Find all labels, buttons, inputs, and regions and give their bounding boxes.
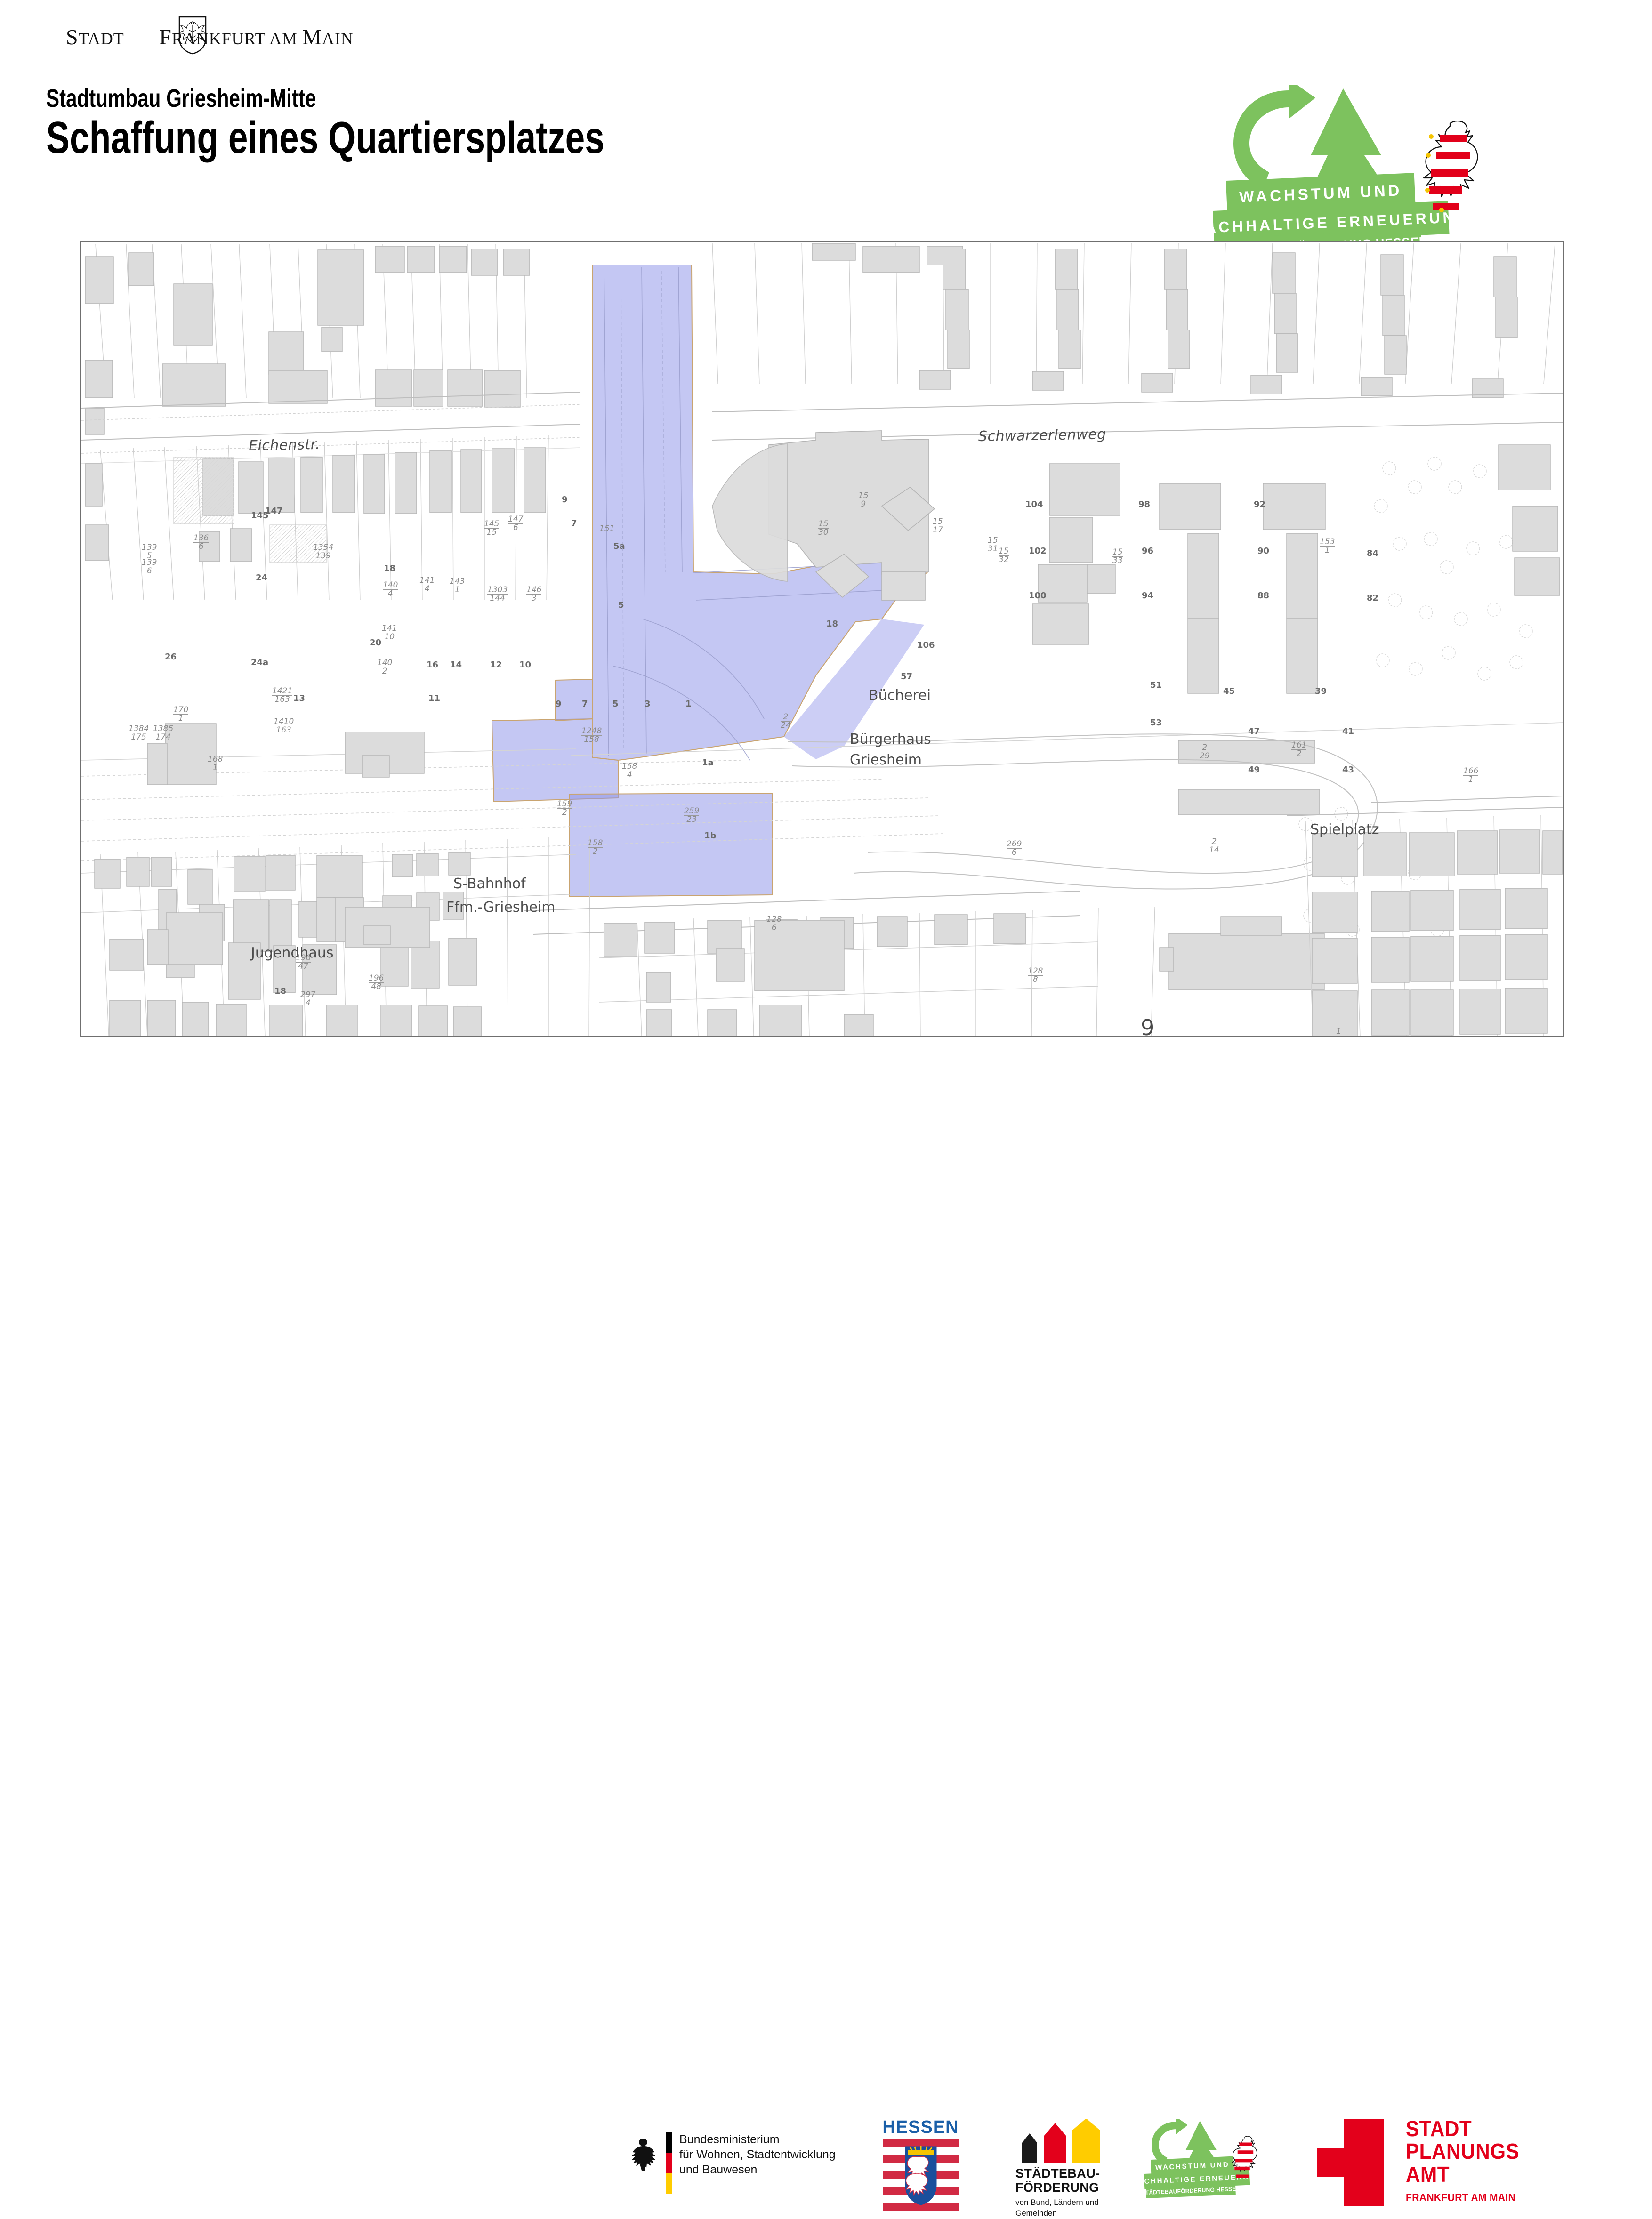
house-number: 43 <box>1342 765 1354 775</box>
map-vector-layer: 9 <box>81 242 1563 1036</box>
parcel-number: 1286 <box>766 916 782 932</box>
parcel-number: 1530 <box>818 520 829 537</box>
parcel-number: 14515 <box>484 520 499 537</box>
parcel-number: 1532 <box>999 547 1009 564</box>
stadt-frankfurt-logo: STADT FRANKFURT AM MAIN <box>66 23 367 56</box>
parcel-number: 159 <box>858 492 869 508</box>
house-number: 49 <box>1248 765 1260 775</box>
house-number: 24a <box>251 658 268 667</box>
bmwsb-line1: Bundesministerium <box>679 2132 849 2147</box>
parcel-number: 2974 <box>300 991 315 1007</box>
house-number: 13 <box>293 693 305 703</box>
house-number: 5 <box>612 699 619 709</box>
parcel-number: 1385174 <box>153 725 173 741</box>
stadtplanungsamt-text: STADT PLANUNGS AMT FRANKFURT AM MAIN <box>1406 2117 1529 2204</box>
parcel-number: 1476 <box>508 515 523 532</box>
parcel-number: 1517 <box>933 518 943 534</box>
german-flag-bar <box>666 2132 672 2194</box>
house-number: 96 <box>1142 546 1153 556</box>
page-title: Schaffung eines Quartiersplatzes <box>46 112 604 164</box>
staedtebaufoerderung-logo: STÄDTEBAU- FÖRDERUNG von Bund, Ländern u… <box>1010 2119 1118 2213</box>
hessen-lion-icon <box>1417 115 1488 216</box>
stfoe-sub: von Bund, Ländern und Gemeinden <box>1015 2197 1099 2219</box>
parcel-number: 19648 <box>369 974 384 991</box>
house-number: 18 <box>274 986 286 996</box>
spa-subline: FRANKFURT AM MAIN <box>1406 2191 1519 2204</box>
poi-label: Ffm.-Griesheim <box>446 899 556 916</box>
bmwsb-line2: für Wohnen, Stadtentwicklung <box>679 2147 849 2162</box>
house-number: 41 <box>1342 726 1354 736</box>
parcel-number: 1592 <box>557 800 572 817</box>
house-number: 26 <box>165 652 177 662</box>
house-number: 102 <box>1029 546 1047 556</box>
cadastral-map[interactable]: 9 Eichenstr.SchwarzerlenwegErzbergerstr.… <box>80 241 1564 1037</box>
house-number: 7 <box>582 699 588 709</box>
house-number: 5 <box>618 600 624 610</box>
parcel-number: 1366 <box>193 534 209 551</box>
parcel-number: 19647 <box>296 954 311 971</box>
house-number: 5a <box>613 541 625 551</box>
house-number: 82 <box>1367 593 1378 603</box>
house-number: 12 <box>490 660 502 670</box>
house-number: 1 <box>685 699 692 709</box>
house-number: 94 <box>1142 591 1153 601</box>
house-number: 1a <box>702 758 714 768</box>
poi-label: Bücherei <box>869 687 931 704</box>
house-number: 18 <box>1233 1037 1244 1037</box>
poi-label: Bürgerhaus <box>850 731 931 748</box>
house-number: 57 <box>901 672 912 682</box>
house-number: 9 <box>562 495 568 505</box>
house-number: 100 <box>1029 591 1047 601</box>
house-number: 18 <box>826 619 838 629</box>
house-number: 3 <box>645 699 651 709</box>
parcel-number: 1421163 <box>272 687 292 704</box>
parcel-number: 1584 <box>622 763 637 779</box>
house-number: 20 <box>370 638 381 648</box>
wordmark-rankfurt-am: RANKFURT AM <box>172 29 302 48</box>
three-houses-icon <box>1017 2119 1102 2163</box>
poi-label: S-Bahnhof <box>453 876 526 892</box>
house-number: 53 <box>1150 718 1162 728</box>
wordmark-tadt: TADT <box>79 29 124 48</box>
parcel-number: 1404 <box>383 581 398 598</box>
parcel-number: 1431 <box>450 578 465 594</box>
parcel-number: 1701 <box>173 706 188 723</box>
parcel-number: 151 <box>599 525 614 533</box>
parcel-number: 214 <box>1209 838 1219 854</box>
spa-line2: PLANUNGS <box>1406 2140 1519 2163</box>
parcel-number: 1354139 <box>313 544 333 560</box>
parcel-number: 14110 <box>382 625 397 641</box>
parcel-number: 1396 <box>142 559 157 575</box>
parcel-number: 1402 <box>377 659 392 675</box>
house-number: 92 <box>1254 499 1265 509</box>
house-number: 90 <box>1257 546 1269 556</box>
stfoe-line3: von Bund, Ländern und <box>1015 2197 1099 2208</box>
parcel-number: 1681 <box>208 756 223 772</box>
parcel-number: 1248158 <box>581 727 602 744</box>
house-number: 9 <box>556 699 562 709</box>
poi-label: Jugendhaus <box>251 945 333 961</box>
house-number: 39 <box>1315 686 1327 696</box>
house-number: 1b <box>704 831 716 841</box>
parcel-number: 1288 <box>1028 967 1043 984</box>
house-number: 84 <box>1367 548 1378 558</box>
stfoe-line1: STÄDTEBAU- <box>1015 2166 1100 2181</box>
parcel-number: 1414 <box>419 577 435 593</box>
parcel-number: 25923 <box>684 807 699 824</box>
spa-line3: AMT <box>1406 2163 1519 2186</box>
bmwsb-logo: Bundesministerium für Wohnen, Stadtentwi… <box>629 2130 850 2196</box>
parcel-number: 1410163 <box>274 718 294 734</box>
project-subtitle: Stadtumbau Griesheim-Mitte <box>46 84 316 113</box>
parcel-number: 224 <box>781 713 791 730</box>
parcel-number: 1463 <box>526 586 541 603</box>
house-number: 7 <box>571 518 577 528</box>
parcel-number: 2696 <box>1007 840 1022 857</box>
page-header: STADT FRANKFURT AM MAIN Stadtumbau Gries… <box>0 0 1652 221</box>
parcel-number: 1384175 <box>129 725 149 741</box>
wachstum-erneuerung-logo: WACHSTUM UND NACHHALTIGE ERNEUERUNG STÄD… <box>1223 85 1515 249</box>
wordmark-f: F <box>159 25 172 49</box>
page-footer: Bundesministerium für Wohnen, Stadtentwi… <box>0 1054 1652 1167</box>
wordmark-s: S <box>66 25 79 49</box>
parcel-number: 229 <box>1200 744 1210 760</box>
house-number: 47 <box>1248 726 1260 736</box>
street-label: Eichenstr. <box>249 436 320 454</box>
house-number: 10 <box>519 660 531 670</box>
bmwsb-line3: und Bauwesen <box>679 2162 849 2177</box>
parcel-number: 1303144 <box>487 586 508 603</box>
house-number: 98 <box>1138 499 1150 509</box>
parcel-number: 1531 <box>988 537 998 553</box>
stfoe-line2: FÖRDERUNG <box>1015 2180 1099 2195</box>
hessen-flag-shield <box>883 2139 959 2211</box>
hessen-logo: HESSEN <box>882 2117 959 2211</box>
stadt-frankfurt-wordmark: STADT FRANKFURT AM MAIN <box>66 24 367 49</box>
house-number: 24 <box>256 573 267 583</box>
bundesadler-icon <box>629 2137 658 2173</box>
house-number: 106 <box>917 640 935 650</box>
hessen-shield-lion-icon <box>903 2145 938 2206</box>
street-label: Schwarzerlenweg <box>978 426 1106 445</box>
parcel-number: 1531 <box>1320 538 1335 555</box>
wordmark-m: M <box>302 25 322 49</box>
house-number: 45 <box>1223 686 1235 696</box>
house-number: 104 <box>1025 499 1043 509</box>
house-number: 51 <box>1150 680 1162 690</box>
hessen-lion-icon <box>1229 2133 1262 2180</box>
stadtplanungsamt-logo: STADT PLANUNGS AMT FRANKFURT AM MAIN <box>1314 2119 1530 2209</box>
spa-line1: STADT <box>1406 2117 1519 2140</box>
svg-text:9: 9 <box>1141 1015 1154 1036</box>
house-number: 145 <box>251 511 269 521</box>
parcel-number: 17 <box>1336 1028 1341 1037</box>
parcel-number: 1612 <box>1291 741 1306 758</box>
house-number: 88 <box>1257 591 1269 601</box>
stadtplanungsamt-mark-icon <box>1314 2119 1384 2206</box>
house-number: 11 <box>428 693 440 703</box>
bmwsb-text: Bundesministerium für Wohnen, Stadtentwi… <box>679 2132 849 2177</box>
parcel-number: 1582 <box>588 839 603 856</box>
stfoe-line4: Gemeinden <box>1015 2208 1099 2219</box>
poi-label: Spielplatz <box>1310 821 1379 838</box>
poi-label: Griesheim <box>850 752 922 768</box>
house-number: 14 <box>450 660 462 670</box>
wachstum-erneuerung-logo-small: WACHSTUM UND NACHHALTIGE ERNEUERUNG STÄD… <box>1144 2119 1281 2204</box>
house-number: 18 <box>384 563 395 573</box>
parcel-number: 1661 <box>1463 767 1478 784</box>
wordmark-ain: AIN <box>322 29 354 48</box>
house-number: 16 <box>427 660 438 670</box>
hessen-wordmark: HESSEN <box>882 2117 959 2138</box>
parcel-number: 1533 <box>1112 548 1123 565</box>
